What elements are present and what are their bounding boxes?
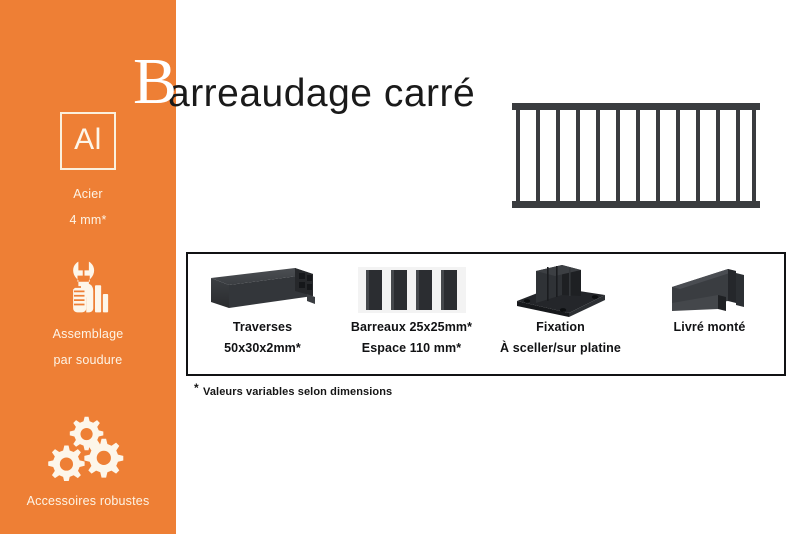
gears-icon: [0, 415, 176, 481]
railing-baluster: [716, 109, 720, 202]
page-title-initial: B: [133, 49, 177, 115]
page-title-rest: arreaudage carré: [168, 72, 475, 116]
railing-baluster: [636, 109, 640, 202]
railing-baluster: [536, 109, 540, 202]
post-base-plate-icon: [486, 262, 635, 318]
railing-bottom-rail: [512, 201, 760, 208]
feature-cell-barreaux: Barreaux 25x25mm* Espace 110 mm*: [337, 254, 486, 374]
feature-panel: Traverses 50x30x2mm* Barreaux 25x25mm* E…: [186, 252, 786, 376]
footnote: * Valeurs variables selon dimensions: [203, 386, 392, 398]
railing-baluster: [656, 109, 660, 202]
feature-title: Traverses: [233, 320, 292, 334]
feature-title: Barreaux 25x25mm*: [351, 320, 472, 334]
railing-baluster: [616, 109, 620, 202]
railing-baluster: [696, 109, 700, 202]
footnote-text: Valeurs variables selon dimensions: [203, 386, 392, 398]
railing-baluster: [752, 109, 756, 202]
material-label-line2: 4 mm*: [0, 210, 176, 230]
sidebar-item-assembly: Assemblage par soudure: [0, 258, 176, 370]
railing-baluster: [516, 109, 520, 202]
assembly-label-line2: par soudure: [0, 350, 176, 370]
assembly-label-line1: Assemblage: [0, 324, 176, 344]
vertical-bars-spacing-icon: [337, 262, 486, 318]
feature-title: Fixation: [536, 320, 585, 334]
feature-cell-traverses: Traverses 50x30x2mm*: [188, 254, 337, 374]
footnote-star: *: [194, 381, 199, 395]
railing-baluster: [676, 109, 680, 202]
railing-baluster: [736, 109, 740, 202]
material-label-line1: Acier: [0, 184, 176, 204]
feature-subtitle: 50x30x2mm*: [224, 341, 301, 355]
al-square-badge-icon: Al: [60, 112, 116, 170]
feature-subtitle: À sceller/sur platine: [500, 341, 621, 355]
feature-subtitle: Espace 110 mm*: [362, 341, 461, 355]
railing-baluster: [596, 109, 600, 202]
railing-baluster: [576, 109, 580, 202]
feature-title: Livré monté: [674, 320, 746, 334]
al-badge-label: Al: [74, 125, 102, 155]
accessories-label: Accessoires robustes: [0, 491, 176, 511]
wrench-hand-icon: [0, 258, 176, 316]
rectangular-tube-profile-icon: [188, 262, 337, 318]
feature-cell-fixation: Fixation À sceller/sur platine: [486, 254, 635, 374]
sidebar-item-accessories: Accessoires robustes: [0, 415, 176, 511]
sidebar-item-material: Al Acier 4 mm*: [0, 112, 176, 230]
railing-baluster: [556, 109, 560, 202]
square-baluster-railing-illustration: [512, 103, 760, 208]
feature-cell-livre-monte: Livré monté: [635, 254, 784, 374]
assembled-panel-icon: [635, 262, 784, 318]
